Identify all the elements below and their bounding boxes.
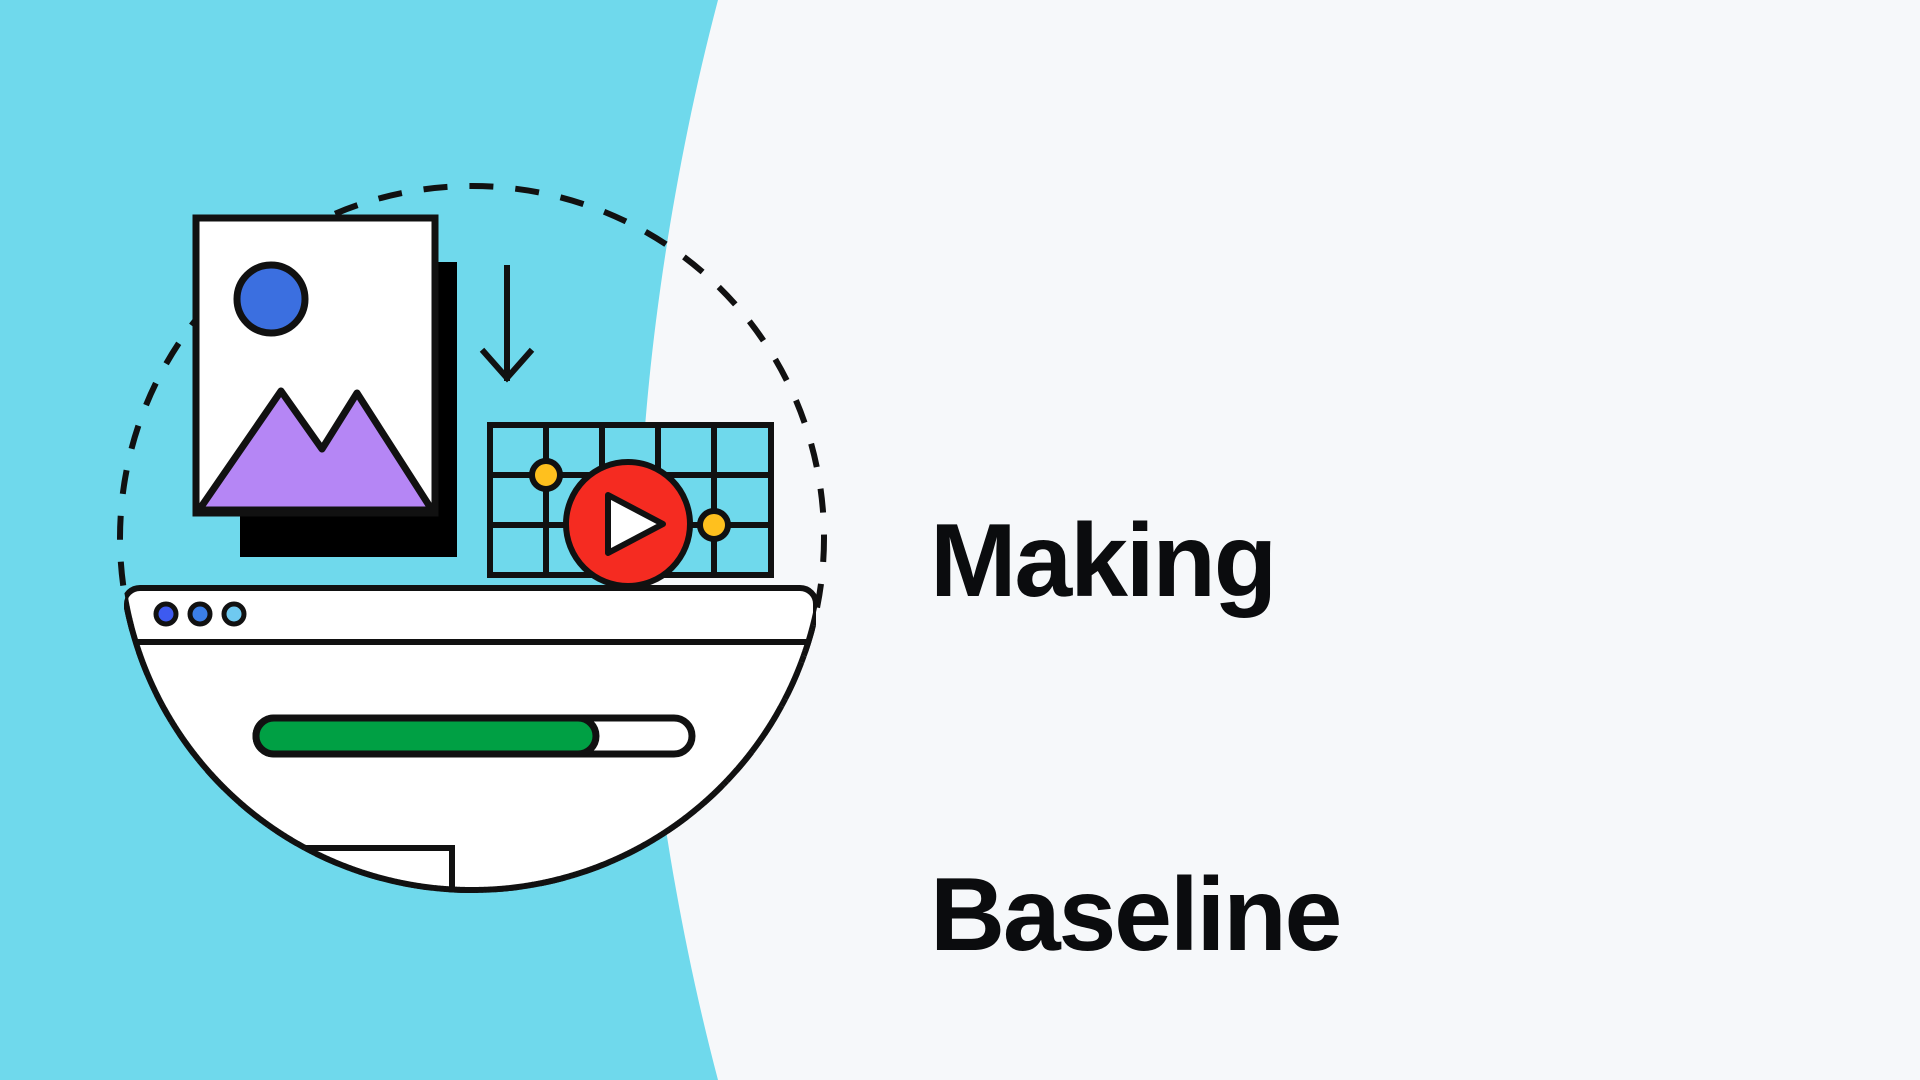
download-arrow-icon bbox=[484, 268, 530, 378]
progress-bar-fill bbox=[256, 718, 596, 754]
hero-card: Making Baseline actionable with real use… bbox=[0, 0, 1920, 1080]
loading-progress-bar bbox=[256, 718, 692, 754]
headline-line-2: Baseline bbox=[930, 856, 1790, 974]
timeline-dot-right-icon bbox=[700, 511, 728, 539]
browser-window bbox=[124, 588, 816, 1080]
image-card-sun-icon bbox=[237, 265, 305, 333]
web-media-performance-illustration bbox=[0, 0, 900, 1080]
play-button[interactable] bbox=[566, 462, 690, 586]
page-title: Making Baseline actionable with real use… bbox=[930, 266, 1790, 1080]
timeline-dot-left-icon bbox=[532, 461, 560, 489]
content-block-left bbox=[272, 848, 452, 944]
browser-window-body bbox=[124, 588, 816, 1080]
image-placeholder-card bbox=[196, 218, 457, 557]
window-dot-3-icon[interactable] bbox=[224, 604, 244, 624]
window-dot-1-icon[interactable] bbox=[156, 604, 176, 624]
content-block-right bbox=[482, 906, 662, 1002]
headline-line-1: Making bbox=[930, 502, 1790, 620]
window-dot-2-icon[interactable] bbox=[190, 604, 210, 624]
